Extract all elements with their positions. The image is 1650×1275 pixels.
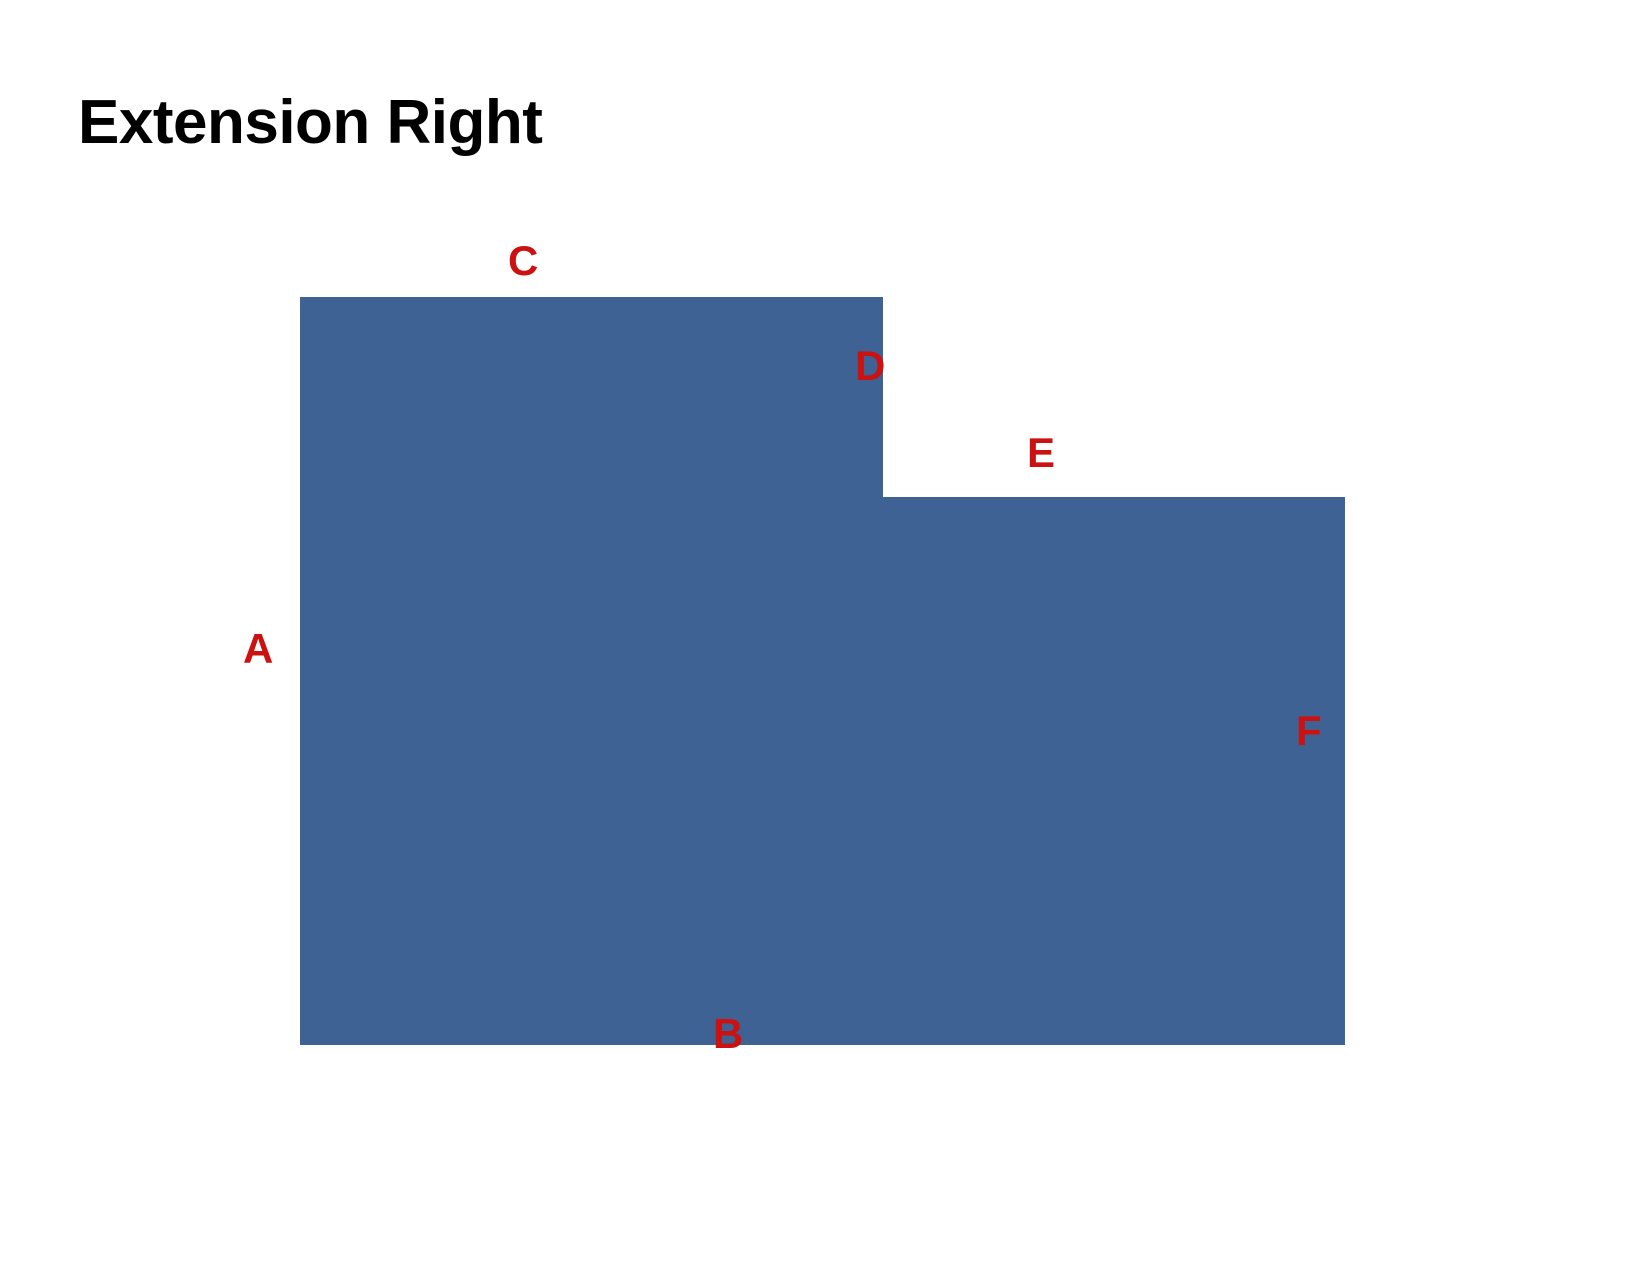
step-polygon [300, 297, 1345, 1045]
edge-label-d: D [855, 345, 885, 387]
slide-canvas: Extension Right A B C D E F [0, 0, 1650, 1275]
edge-label-b: B [713, 1013, 743, 1055]
edge-label-e: E [1027, 432, 1055, 474]
edge-label-c: C [508, 240, 538, 282]
edge-label-a: A [243, 628, 273, 670]
edge-label-f: F [1296, 710, 1322, 752]
